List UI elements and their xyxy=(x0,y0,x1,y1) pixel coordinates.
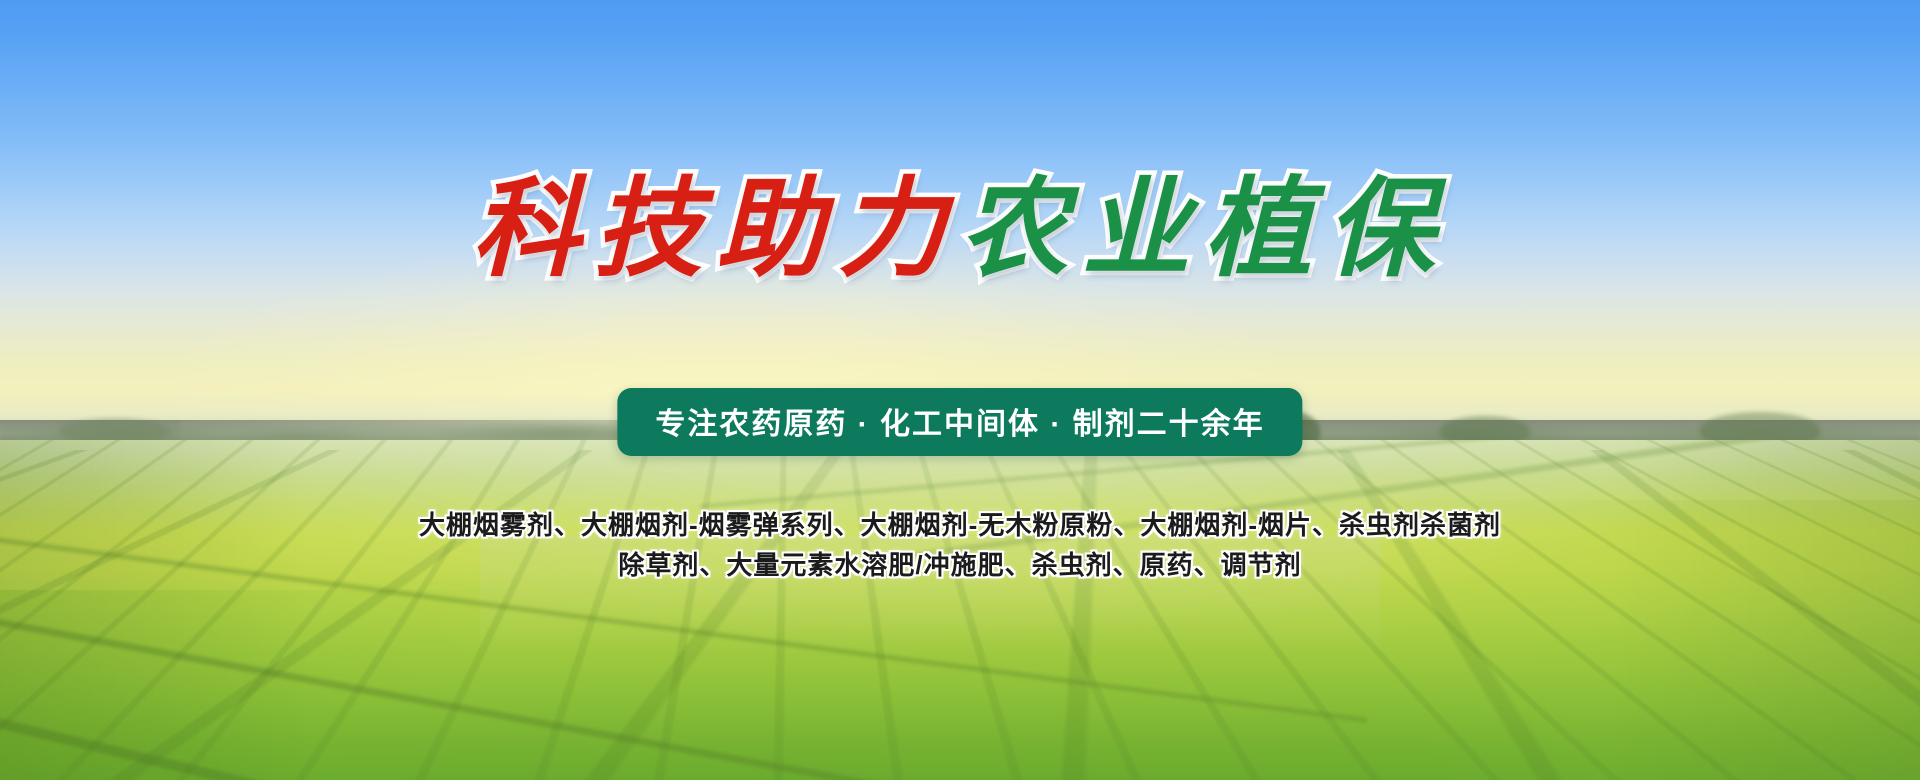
field-plot-left xyxy=(0,590,700,780)
headline-text-red: 科技助力 xyxy=(472,166,960,292)
tagline-badge: 专注农药原药 · 化工中间体 · 制剂二十余年 xyxy=(617,388,1302,456)
product-list-line-2: 除草剂、大量元素水溶肥/冲施肥、杀虫剂、原药、调节剂 xyxy=(0,545,1920,582)
banner-headline: 科技助力农业植保 xyxy=(0,166,1920,293)
product-list-line-1: 大棚烟雾剂、大棚烟剂-烟雾弹系列、大棚烟剂-无木粉原粉、大棚烟剂-烟片、杀虫剂杀… xyxy=(0,505,1920,542)
crop-field xyxy=(0,440,1920,780)
tractor-tracks-fine xyxy=(0,440,1920,780)
field-division-line xyxy=(0,582,1472,780)
field-division-line xyxy=(0,656,1588,780)
headline-text-green: 农业植保 xyxy=(960,166,1448,292)
banner-stage: 科技助力农业植保 专注农药原药 · 化工中间体 · 制剂二十余年 大棚烟雾剂、大… xyxy=(0,0,1920,780)
field-division-line xyxy=(0,740,1603,780)
field-lighting-overlay xyxy=(0,440,1920,780)
field-plot-right xyxy=(1180,500,1920,780)
tractor-tracks-wide xyxy=(0,450,1920,780)
